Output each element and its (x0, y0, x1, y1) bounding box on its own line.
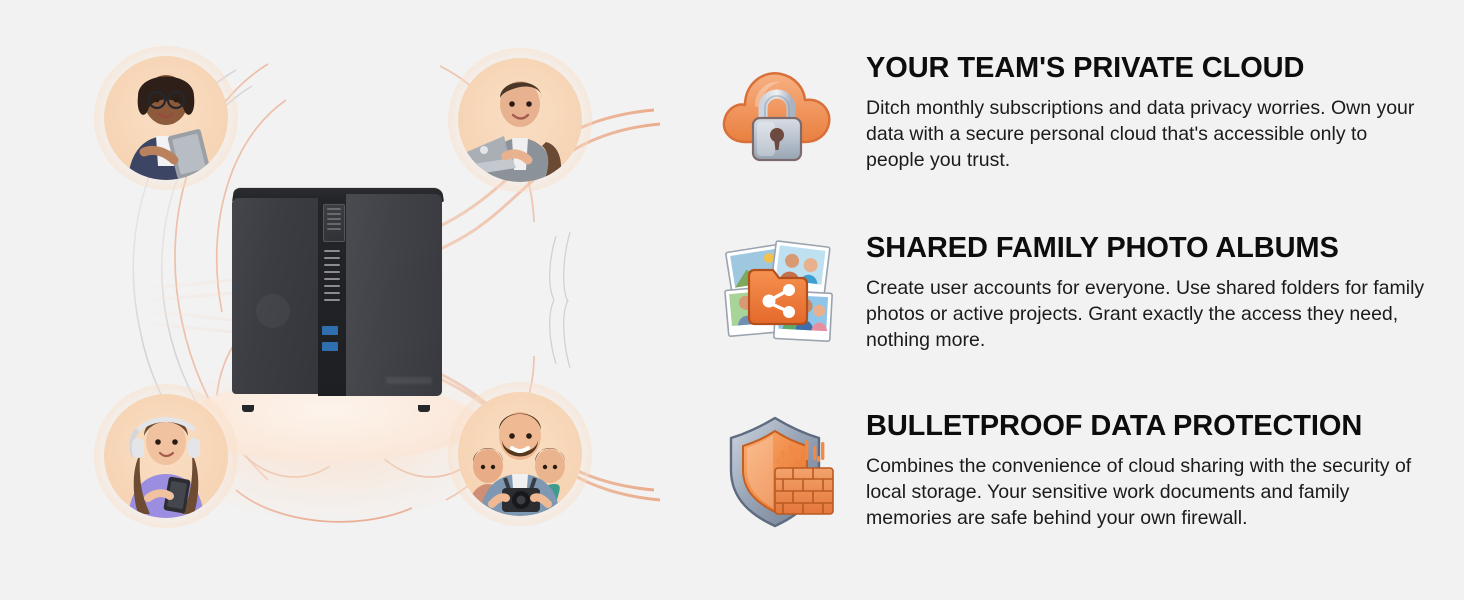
avatar-disc (104, 394, 228, 518)
nas-foot-left (242, 405, 254, 412)
feature-text-block: YOUR TEAM'S PRIVATE CLOUD Ditch monthly … (866, 52, 1426, 173)
avatar-man-laptop (458, 58, 582, 182)
nas-foot-right (418, 405, 430, 412)
shared-photos-folder-icon (710, 232, 844, 353)
nas-device (228, 186, 444, 406)
feature-private-cloud: YOUR TEAM'S PRIVATE CLOUD Ditch monthly … (710, 52, 1464, 173)
avatar-art-girl-phone (128, 418, 204, 518)
feature-text-block: SHARED FAMILY PHOTO ALBUMS Create user a… (866, 232, 1426, 353)
feature-shared-photos: SHARED FAMILY PHOTO ALBUMS Create user a… (710, 232, 1464, 353)
shield-firewall-icon (710, 410, 844, 531)
feature-title: SHARED FAMILY PHOTO ALBUMS (866, 234, 1426, 263)
nas-brand-mark (386, 377, 432, 384)
feature-data-protection: BULLETPROOF DATA PROTECTION Combines the… (710, 410, 1464, 531)
avatar-art-family-camera (466, 412, 565, 516)
nas-led-indicators (324, 250, 344, 306)
avatar-art-woman-tablet (128, 75, 211, 180)
nas-lcd-screen (323, 204, 345, 242)
nas-usb-port-2 (322, 342, 338, 351)
feature-body: Create user accounts for everyone. Use s… (866, 275, 1426, 353)
nas-right-panel (346, 194, 442, 396)
feature-text-block: BULLETPROOF DATA PROTECTION Combines the… (866, 410, 1426, 531)
feature-title: YOUR TEAM'S PRIVATE CLOUD (866, 54, 1426, 83)
avatar-girl-phone (104, 394, 228, 518)
cloud-lock-icon (710, 52, 844, 173)
avatar-woman-tablet (104, 56, 228, 180)
avatar-family-camera (458, 392, 582, 516)
avatar-disc (458, 58, 582, 182)
feature-title: BULLETPROOF DATA PROTECTION (866, 412, 1426, 441)
feature-body: Ditch monthly subscriptions and data pri… (866, 95, 1426, 173)
infographic-canvas: YOUR TEAM'S PRIVATE CLOUD Ditch monthly … (0, 0, 1464, 600)
avatar-disc (104, 56, 228, 180)
hero-illustration (0, 0, 720, 600)
nas-usb-port-1 (322, 326, 338, 335)
feature-list: YOUR TEAM'S PRIVATE CLOUD Ditch monthly … (710, 0, 1464, 600)
nas-left-panel (232, 198, 318, 394)
avatar-disc (458, 392, 582, 516)
feature-body: Combines the convenience of cloud sharin… (866, 453, 1426, 531)
nas-logo (256, 294, 290, 328)
